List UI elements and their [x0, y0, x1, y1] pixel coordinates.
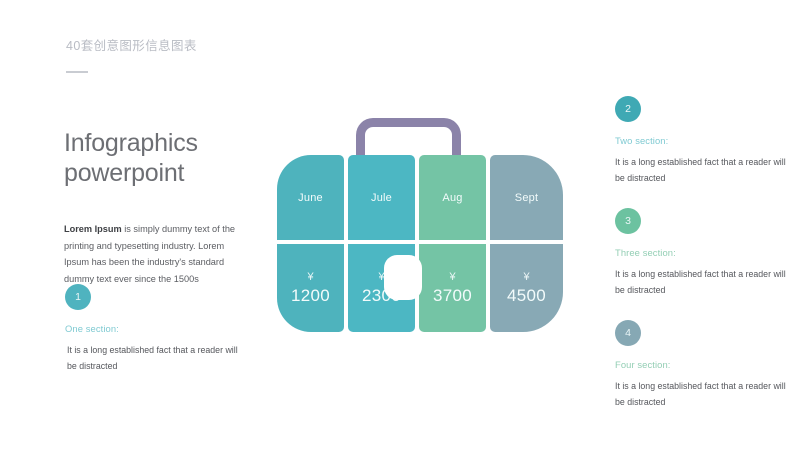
- section-body-4: It is a long established fact that a rea…: [615, 378, 787, 410]
- section-two: 2 Two section: It is a long established …: [615, 96, 787, 186]
- section-body-3: It is a long established fact that a rea…: [615, 266, 787, 298]
- section-badge-3: 3: [615, 208, 641, 234]
- section-body-1: It is a long established fact that a rea…: [67, 342, 244, 374]
- section-badge-4: 4: [615, 320, 641, 346]
- amount-value-june: 1200: [291, 286, 330, 306]
- amount-value-aug: 3700: [433, 286, 472, 306]
- section-title-4: Four section:: [615, 359, 787, 370]
- right-column: 2 Two section: It is a long established …: [615, 96, 787, 410]
- currency-symbol-icon-aug: ¥: [449, 271, 455, 284]
- currency-symbol-icon-sept: ¥: [523, 271, 529, 284]
- section-body-2: It is a long established fact that a rea…: [615, 154, 787, 186]
- headline-line-1: Infographics: [64, 129, 198, 157]
- briefcase-body: June Jule Aug Sept ¥ 1200 ¥ 2300 ¥ 3700 …: [277, 155, 563, 332]
- briefcase-amount-tile-sept[interactable]: ¥ 4500: [490, 244, 563, 332]
- page-title: Infographics powerpoint: [64, 128, 242, 188]
- lead-paragraph: Lorem Ipsum is simply dummy text of the …: [64, 221, 242, 287]
- lead-paragraph-bold: Lorem Ipsum: [64, 224, 122, 234]
- section-badge-1: 1: [65, 284, 91, 310]
- briefcase-month-tile-june[interactable]: June: [277, 155, 344, 240]
- headline-line-2: powerpoint: [64, 158, 242, 188]
- amount-value-sept: 4500: [507, 286, 546, 306]
- briefcase-month-tile-sept[interactable]: Sept: [490, 155, 563, 240]
- section-title-1: One section:: [65, 323, 244, 334]
- briefcase-month-tile-aug[interactable]: Aug: [419, 155, 486, 240]
- slide-title: 40套创意图形信息图表: [66, 35, 197, 54]
- month-label-aug: Aug: [442, 192, 462, 204]
- section-one: 1 One section: It is a long established …: [64, 284, 244, 374]
- section-badge-2: 2: [615, 96, 641, 122]
- briefcase-month-tile-jule[interactable]: Jule: [348, 155, 415, 240]
- briefcase-amount-tile-aug[interactable]: ¥ 3700: [419, 244, 486, 332]
- currency-symbol-icon-june: ¥: [307, 271, 313, 284]
- briefcase-latch-icon: [384, 255, 422, 300]
- section-title-2: Two section:: [615, 135, 787, 146]
- section-three: 3 Three section: It is a long establishe…: [615, 208, 787, 298]
- month-label-jule: Jule: [371, 192, 392, 204]
- title-underline-rule: [66, 71, 88, 73]
- left-column: Infographics powerpoint Lorem Ipsum is s…: [64, 128, 242, 296]
- section-title-3: Three section:: [615, 247, 787, 258]
- section-four: 4 Four section: It is a long established…: [615, 320, 787, 410]
- briefcase-infographic: June Jule Aug Sept ¥ 1200 ¥ 2300 ¥ 3700 …: [277, 118, 563, 332]
- month-label-june: June: [298, 192, 323, 204]
- briefcase-amount-tile-june[interactable]: ¥ 1200: [277, 244, 344, 332]
- month-label-sept: Sept: [515, 192, 538, 204]
